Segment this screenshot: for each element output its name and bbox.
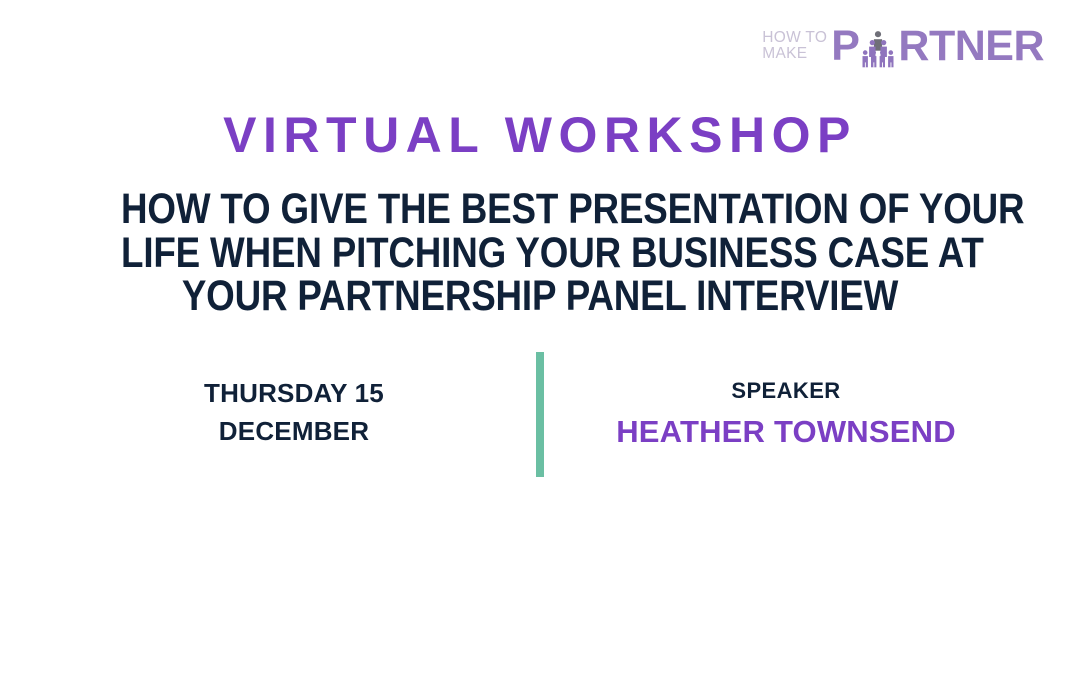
- logo-line-make: MAKE: [762, 46, 827, 61]
- speaker-block: SPEAKER HEATHER TOWNSEND: [576, 352, 996, 477]
- logo-letter-p: P: [831, 25, 859, 68]
- event-date-line-2: DECEMBER: [84, 412, 504, 450]
- brand-logo[interactable]: HOW TO MAKE P: [762, 22, 1044, 70]
- logo-how-to-make-text: HOW TO MAKE: [762, 30, 827, 61]
- logo-line-how-to: HOW TO: [762, 30, 827, 45]
- details-row: THURSDAY 15 DECEMBER SPEAKER HEATHER TOW…: [0, 352, 1080, 477]
- eyebrow-title: VIRTUAL WORKSHOP: [0, 107, 1080, 165]
- vertical-divider: [536, 352, 544, 477]
- speaker-name: HEATHER TOWNSEND: [576, 415, 996, 449]
- headline-line-3: YOUR PARTNERSHIP PANEL INTERVIEW: [121, 275, 959, 319]
- page-title: HOW TO GIVE THE BEST PRESENTATION OF YOU…: [121, 188, 959, 319]
- people-group-icon: [858, 29, 898, 69]
- speaker-label: SPEAKER: [576, 376, 996, 406]
- logo-partner-word: P: [831, 25, 1044, 68]
- event-date-line-1: THURSDAY 15: [84, 374, 504, 412]
- headline-line-2: LIFE WHEN PITCHING YOUR BUSINESS CASE AT: [121, 232, 959, 276]
- logo-letters-rtner: RTNER: [898, 25, 1044, 68]
- event-date-block: THURSDAY 15 DECEMBER: [84, 352, 504, 477]
- headline-line-1: HOW TO GIVE THE BEST PRESENTATION OF YOU…: [121, 188, 959, 232]
